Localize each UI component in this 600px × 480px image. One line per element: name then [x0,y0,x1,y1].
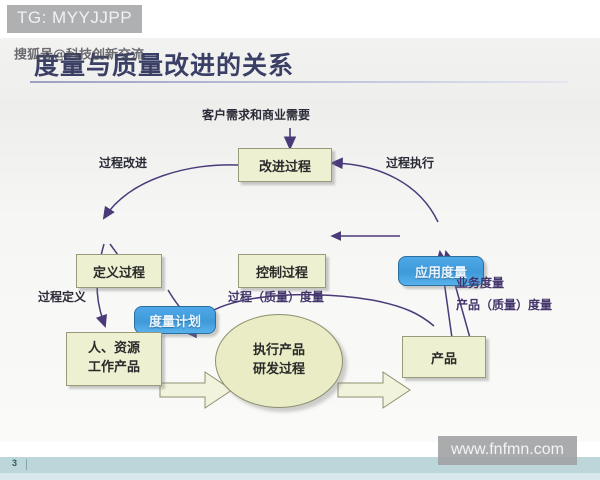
node-label-line2: 研发过程 [253,361,305,380]
node-label-line2: 工作产品 [88,359,140,378]
node-product[interactable]: 产品 [402,336,486,378]
screenshot-root: 度量与质量改进的关系 [0,0,600,480]
node-execute-rd-process[interactable]: 执行产品 研发过程 [215,314,343,408]
node-measurement-plan[interactable]: 度量计划 [134,306,216,334]
page-number-divider [26,459,27,470]
slide-canvas: 度量与质量改进的关系 [0,38,600,442]
node-label: 定义过程 [93,262,145,281]
watermark-site: www.fnfmn.com [438,436,577,465]
node-label: 改进过程 [259,156,311,175]
node-label: 控制过程 [256,262,308,281]
node-improve-process[interactable]: 改进过程 [238,148,332,182]
label-customer-needs: 客户需求和商业需要 [202,106,310,123]
label-process-improvement: 过程改进 [99,154,147,171]
arrow-apply-to-improve [332,163,438,222]
arrow-improve-to-define [104,165,238,218]
page-number: 3 [12,458,17,468]
node-people-resources[interactable]: 人、资源 工作产品 [66,332,162,386]
label-process-definition: 过程定义 [38,288,86,305]
node-label: 产品 [431,348,457,367]
node-control-process[interactable]: 控制过程 [238,254,326,288]
watermark-sohu: 搜狐号@科技创新交流 [14,44,144,62]
node-define-process[interactable]: 定义过程 [76,254,162,288]
footer-bar-secondary [0,473,600,480]
node-label-line1: 人、资源 [88,340,140,359]
label-product-quality-measure: 产品（质量）度量 [456,296,552,313]
label-business-measure: 业务度量 [456,274,504,291]
node-label-line1: 执行产品 [253,342,305,361]
watermark-tg: TG: MYYJJPP [7,5,142,33]
label-process-execution: 过程执行 [386,154,434,171]
block-arrow-execute-to-product [338,372,410,408]
label-process-quality-measure: 过程（质量）度量 [228,288,324,305]
node-label: 度量计划 [149,311,201,330]
